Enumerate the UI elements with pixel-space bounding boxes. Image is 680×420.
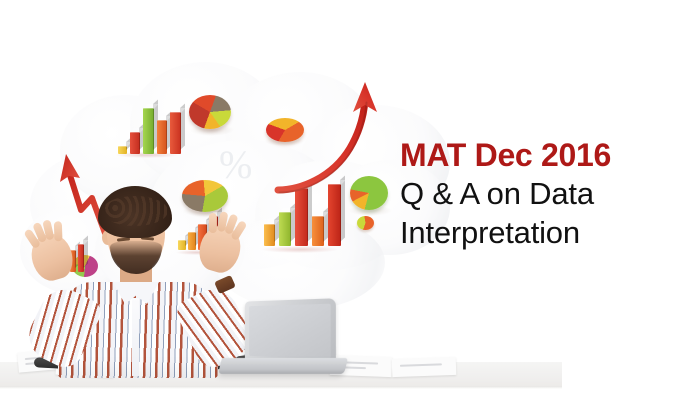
shirt-placket: [132, 298, 139, 376]
laptop: [218, 300, 348, 378]
growth-arrow-large: [276, 78, 391, 200]
laptop-lid: [245, 298, 336, 366]
headline-line-3: Interpretation: [400, 213, 668, 252]
headline-block: MAT Dec 2016 Q & A on Data Interpretatio…: [400, 136, 668, 252]
banner-image: %: [0, 0, 680, 420]
hair: [98, 186, 172, 238]
headline-line-1: MAT Dec 2016: [400, 136, 668, 174]
pie-chart-small-right: [357, 216, 374, 230]
beard: [110, 241, 162, 274]
hand-left: [26, 229, 77, 284]
pie-chart-top: [189, 95, 231, 129]
hand-right: [194, 221, 245, 276]
wristwatch: [214, 275, 236, 294]
laptop-base: [218, 358, 348, 374]
percent-watermark: %: [219, 141, 252, 188]
headline-line-2: Q & A on Data: [400, 174, 668, 213]
desk-edge: [0, 386, 562, 389]
